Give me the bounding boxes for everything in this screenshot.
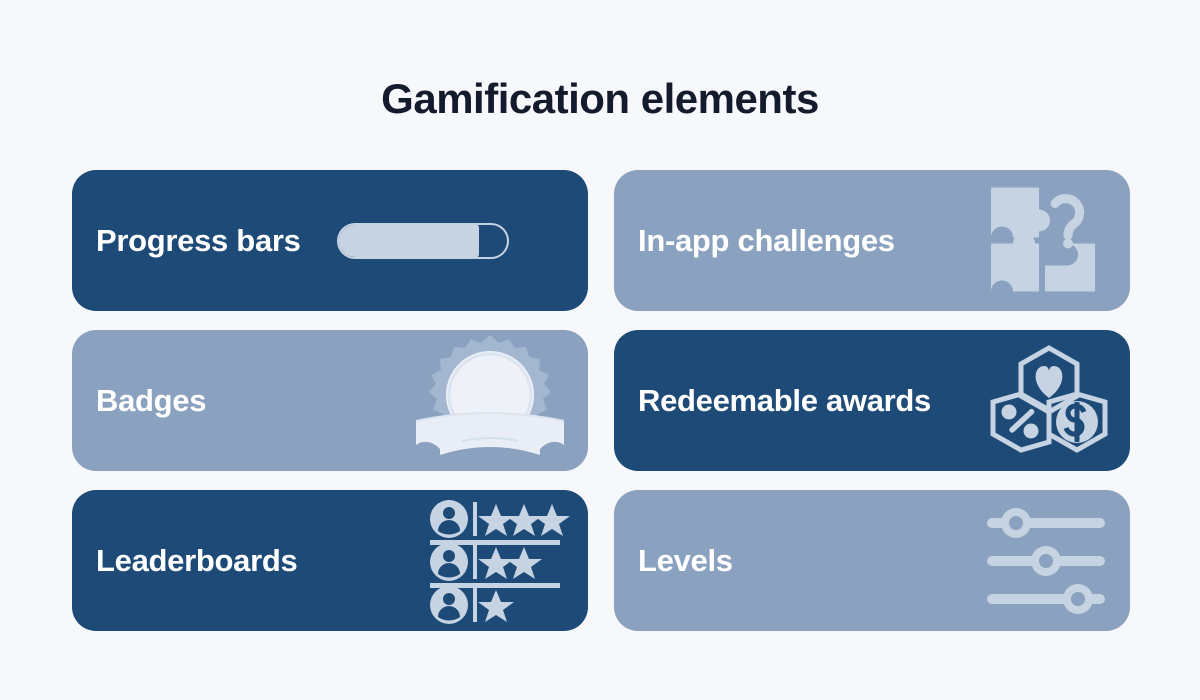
card-levels[interactable]: Levels <box>614 490 1130 631</box>
card-label: Leaderboards <box>96 542 297 580</box>
hexagon-rewards-icon <box>990 342 1108 460</box>
card-in-app-challenges[interactable]: In-app challenges <box>614 170 1130 311</box>
page-title: Gamification elements <box>0 76 1200 122</box>
card-label: Badges <box>96 382 206 420</box>
leaderboard-row <box>430 543 542 581</box>
progress-bar-icon <box>337 223 509 259</box>
leaderboard-rows-icon <box>428 498 562 624</box>
leaderboard-row <box>430 586 514 624</box>
infographic-page: Gamification elements Progress bars In-a… <box>0 0 1200 700</box>
progress-bar-fill <box>338 224 479 258</box>
progress-bar-track <box>337 223 509 259</box>
card-leaderboards[interactable]: Leaderboards <box>72 490 588 631</box>
rosette-medal-ribbon-icon <box>400 333 580 469</box>
puzzle-question-icon <box>977 173 1112 308</box>
leaderboard-row <box>430 500 570 538</box>
card-label: Progress bars <box>96 222 301 260</box>
card-badges[interactable]: Badges <box>72 330 588 471</box>
sliders-icon <box>986 505 1106 617</box>
card-progress-bars[interactable]: Progress bars <box>72 170 588 311</box>
card-label: Levels <box>638 542 733 580</box>
card-label: In-app challenges <box>638 222 895 260</box>
gamification-card-grid: Progress bars In-app challenges <box>72 170 1130 630</box>
card-label: Redeemable awards <box>638 382 931 420</box>
card-redeemable-awards[interactable]: Redeemable awards <box>614 330 1130 471</box>
